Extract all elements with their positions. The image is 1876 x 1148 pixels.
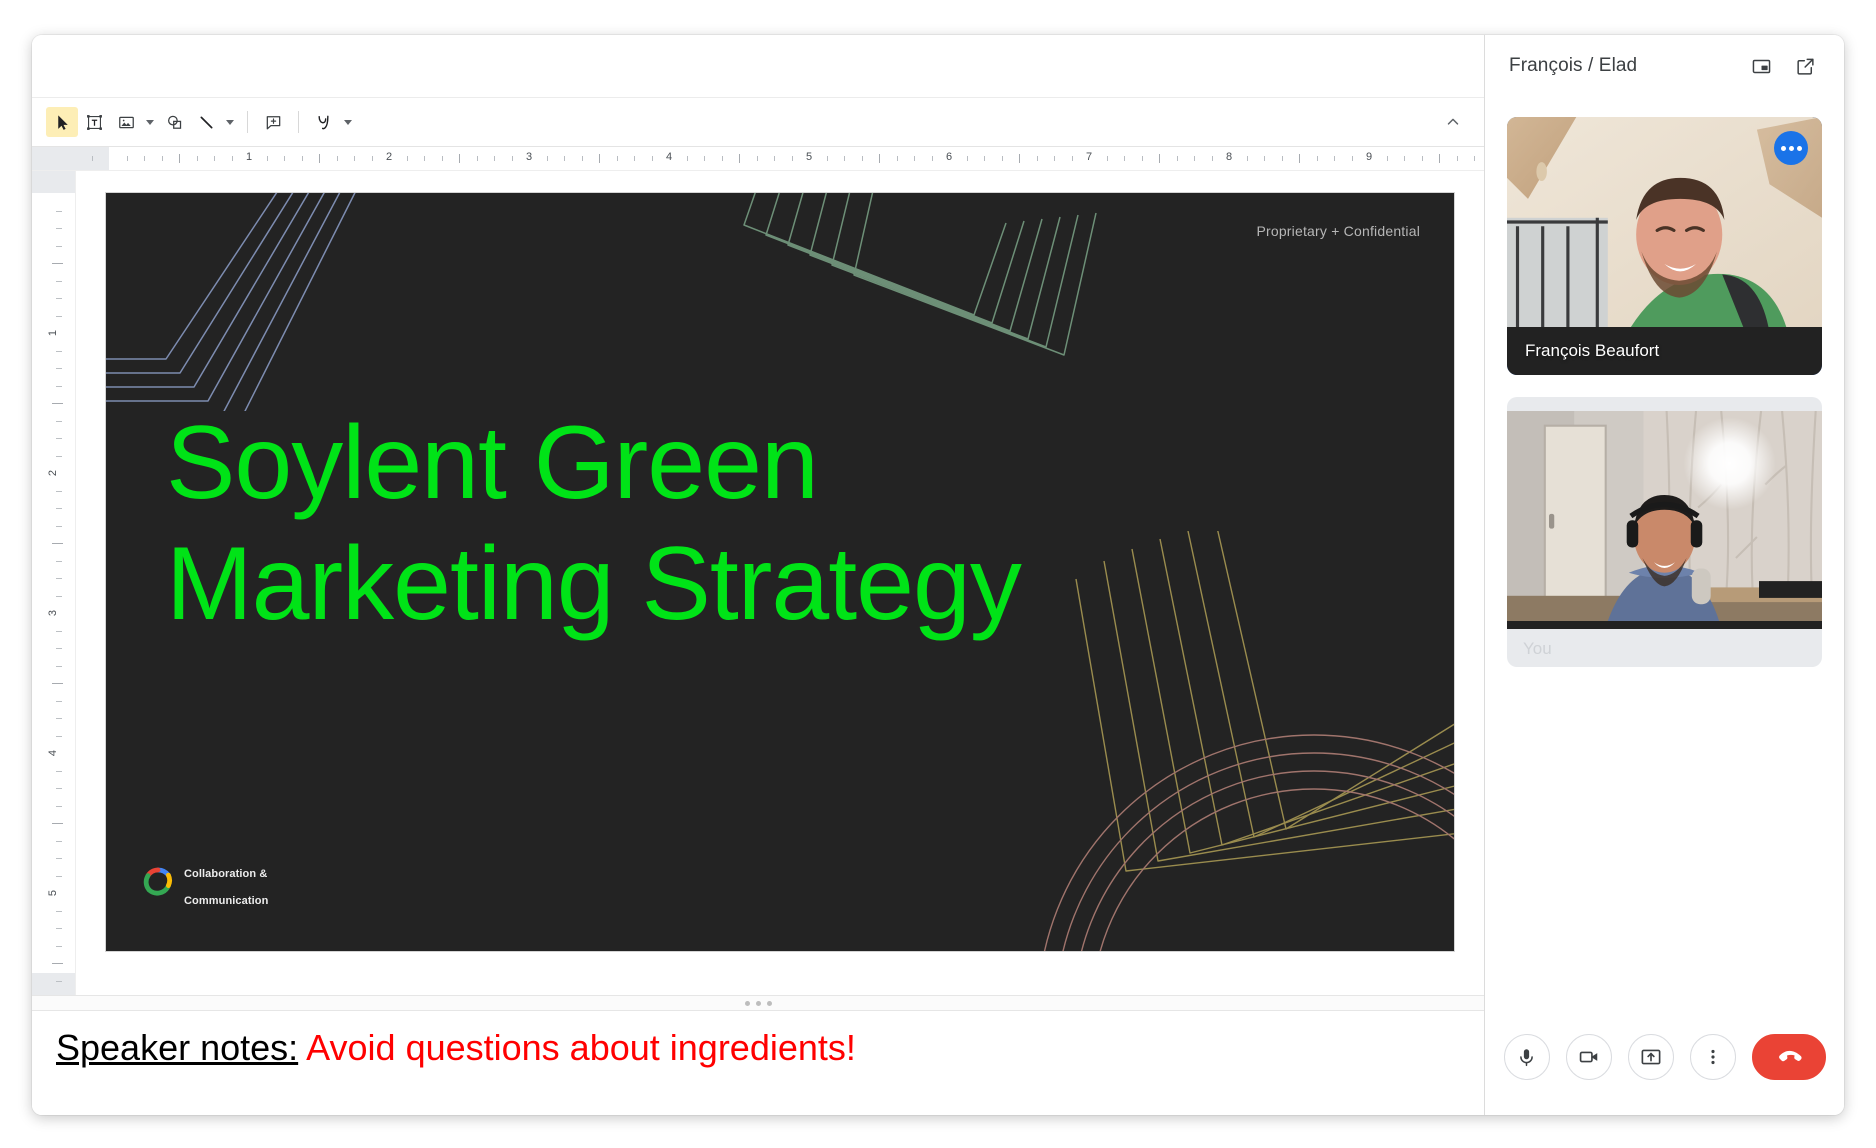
ruler-tick [512, 156, 513, 161]
ruler-tick [1247, 156, 1248, 161]
comment-tool[interactable] [257, 107, 289, 137]
ruler-tick [634, 156, 635, 161]
ruler-tick [56, 666, 62, 667]
ruler-tick [1457, 156, 1458, 161]
ruler-tick [1387, 156, 1388, 161]
ruler-tick [1159, 154, 1160, 163]
ruler-tick [494, 156, 495, 161]
ruler-tick [267, 156, 268, 161]
ruler-tick [56, 438, 62, 439]
editor-body: 12345 [32, 171, 1484, 995]
ruler-tick [56, 508, 62, 509]
ruler-tick [92, 156, 93, 161]
google-c-logo-icon [142, 866, 174, 898]
ruler-tick [1264, 156, 1265, 161]
image-icon [117, 113, 136, 132]
ruler-tick [197, 156, 198, 161]
ruler-tick [1194, 156, 1195, 161]
more-options-button[interactable] [1690, 1034, 1736, 1080]
ruler-tick [372, 156, 373, 161]
meet-panel: François / Elad [1485, 35, 1844, 1115]
participant-tiles: François Beaufort [1485, 97, 1844, 1007]
curve-tool-dropdown[interactable] [340, 107, 356, 137]
ruler-tick [52, 403, 63, 404]
present-button[interactable] [1628, 1034, 1674, 1080]
ruler-tick [792, 156, 793, 161]
text-box-icon [85, 113, 104, 132]
ruler-tick [144, 156, 145, 161]
participant-name: François Beaufort [1525, 341, 1659, 361]
meet-title: François / Elad [1509, 55, 1734, 77]
ruler-tick-label: 3 [526, 151, 532, 163]
ruler-tick [56, 876, 62, 877]
ruler-tick-label: 1 [246, 151, 252, 163]
ruler-tick [302, 156, 303, 161]
image-tool[interactable] [110, 107, 142, 137]
dot [1789, 146, 1794, 151]
ruler-tick [862, 156, 863, 161]
ruler-tick [56, 911, 62, 912]
brand-line-2: Communication [184, 895, 268, 907]
phone-hangup-icon [1775, 1043, 1803, 1071]
ruler-tick [547, 156, 548, 161]
slide-brand-logo: Collaboration & Communication [142, 854, 268, 909]
ruler-tick-label: 6 [946, 151, 952, 163]
ruler-tick [1404, 156, 1405, 161]
ruler-tick [56, 228, 62, 229]
slide-canvas-area[interactable]: Proprietary + Confidential Soylent Green… [76, 171, 1484, 995]
ruler-tick [722, 156, 723, 161]
dot [1781, 146, 1786, 151]
brand-text: Collaboration & Communication [184, 854, 268, 909]
image-tool-dropdown[interactable] [142, 107, 158, 137]
ruler-tick [56, 316, 62, 317]
ruler-tick [56, 981, 62, 982]
ruler-tick [52, 263, 63, 264]
participant-more-options-button[interactable] [1774, 131, 1808, 165]
open-in-new-icon [1795, 56, 1816, 77]
video-frame-self [1507, 411, 1822, 621]
ruler-tick [319, 154, 320, 163]
participant-video: François Beaufort [1507, 117, 1822, 375]
ruler-tick [757, 156, 758, 161]
ruler-tick [827, 156, 828, 161]
slide-title[interactable]: Soylent Green Marketing Strategy [166, 403, 1226, 644]
ruler-tick [56, 736, 62, 737]
ruler-tick [564, 156, 565, 161]
ruler-tick [1002, 156, 1003, 161]
chevron-down-icon [226, 120, 234, 125]
pen-curve-icon [314, 112, 334, 132]
ruler-tick [1439, 154, 1440, 163]
microphone-icon [1516, 1047, 1537, 1068]
chevron-up-icon [1444, 113, 1462, 131]
ruler-tick [984, 156, 985, 161]
ruler-tick [56, 211, 62, 212]
ruler-tick [56, 456, 62, 457]
ruler-tick-label: 5 [806, 151, 812, 163]
horizontal-ruler[interactable]: 123456789 [32, 147, 1484, 171]
collapse-menus-button[interactable] [1438, 107, 1468, 137]
ruler-tick [459, 154, 460, 163]
leave-call-button[interactable] [1752, 1034, 1826, 1080]
cursor-icon [54, 114, 71, 131]
horizontal-ruler-track: 123456789 [76, 147, 1484, 170]
ruler-tick [56, 386, 62, 387]
slides-toolbar [32, 97, 1484, 147]
ruler-tick [1334, 156, 1335, 161]
ruler-tick [599, 154, 600, 163]
ruler-tick [1019, 154, 1020, 163]
ruler-tick [1282, 156, 1283, 161]
toolbar-separator [247, 111, 248, 133]
ruler-tick-label: 4 [47, 750, 59, 756]
present-screen-icon [1640, 1046, 1662, 1068]
ruler-tick [56, 788, 62, 789]
ruler-tick [1422, 156, 1423, 161]
chevron-down-icon [344, 120, 352, 125]
editor-top-gap [32, 35, 1484, 97]
ruler-margin-top [32, 171, 75, 193]
ruler-tick [879, 154, 880, 163]
ruler-tick [1352, 156, 1353, 161]
ruler-tick [56, 421, 62, 422]
dot [1797, 146, 1802, 151]
ruler-tick-label: 2 [386, 151, 392, 163]
ruler-tick [284, 156, 285, 161]
ruler-margin-left [76, 147, 109, 170]
ruler-tick [56, 561, 62, 562]
drag-dot [767, 1001, 772, 1006]
select-tool[interactable] [46, 107, 78, 137]
brand-line-1: Collaboration & [184, 868, 267, 880]
ruler-tick [739, 154, 740, 163]
ruler-tick [56, 491, 62, 492]
ruler-tick [56, 246, 62, 247]
ruler-tick [477, 156, 478, 161]
drag-dot [756, 1001, 761, 1006]
ruler-tick [1474, 156, 1475, 161]
picture-in-picture-icon [1751, 56, 1772, 77]
add-comment-icon [264, 113, 283, 132]
video-camera-icon [1578, 1046, 1600, 1068]
picture-in-picture-button[interactable] [1744, 49, 1778, 83]
ruler-tick [56, 631, 62, 632]
ruler-tick [214, 156, 215, 161]
ruler-tick [52, 963, 63, 964]
ruler-tick [1124, 156, 1125, 161]
ruler-tick-label: 9 [1366, 151, 1372, 163]
speaker-notes-text[interactable]: Avoid questions about ingredients! [306, 1027, 856, 1068]
ruler-tick [56, 351, 62, 352]
ruler-tick [704, 156, 705, 161]
ruler-tick [1177, 156, 1178, 161]
ruler-tick-label: 5 [47, 890, 59, 896]
ruler-tick [162, 156, 163, 161]
ruler-tick [687, 156, 688, 161]
ruler-tick [844, 156, 845, 161]
toolbar-separator [298, 111, 299, 133]
angular-lines-top-center-decoration [706, 193, 1126, 413]
notes-resize-handle[interactable] [32, 995, 1484, 1011]
curve-tool[interactable] [308, 107, 340, 137]
textbox-tool[interactable] [78, 107, 110, 137]
ruler-tick [424, 156, 425, 161]
ruler-tick [56, 928, 62, 929]
ruler-tick-label: 8 [1226, 151, 1232, 163]
ruler-tick [52, 543, 63, 544]
shape-tool[interactable] [158, 107, 190, 137]
ruler-tick [1142, 156, 1143, 161]
ruler-tick [1212, 156, 1213, 161]
ruler-tick [1072, 156, 1073, 161]
participant-tile-self[interactable]: You [1507, 397, 1822, 667]
ruler-tick [56, 368, 62, 369]
ruler-tick [407, 156, 408, 161]
confidential-label: Proprietary + Confidential [1256, 223, 1420, 239]
ruler-tick [442, 156, 443, 161]
ruler-tick [1317, 156, 1318, 161]
ruler-tick [897, 156, 898, 161]
concentric-arcs-bottom-right-decoration [1014, 721, 1454, 951]
ruler-tick [52, 683, 63, 684]
ruler-tick-label: 4 [666, 151, 672, 163]
drag-dot [745, 1001, 750, 1006]
ruler-tick [56, 578, 62, 579]
ruler-tick [56, 841, 62, 842]
chevron-down-icon [146, 120, 154, 125]
vertical-ruler[interactable]: 12345 [32, 171, 76, 995]
ruler-tick [56, 648, 62, 649]
open-in-new-window-button[interactable] [1788, 49, 1822, 83]
ruler-tick [56, 858, 62, 859]
ruler-tick [914, 156, 915, 161]
ruler-tick [127, 156, 128, 161]
ruler-tick [56, 946, 62, 947]
chevron-lines-top-left-decoration [106, 193, 516, 411]
line-tool[interactable] [190, 107, 222, 137]
line-icon [197, 113, 216, 132]
meet-header: François / Elad [1485, 35, 1844, 97]
ruler-tick [1107, 156, 1108, 161]
ruler-tick [52, 823, 63, 824]
ruler-tick [354, 156, 355, 161]
application-window: 123456789 12345 [32, 35, 1844, 1115]
camera-button[interactable] [1566, 1034, 1612, 1080]
ruler-tick [774, 156, 775, 161]
ruler-tick-label: 7 [1086, 151, 1092, 163]
ruler-tick-label: 3 [47, 610, 59, 616]
ruler-corner [32, 147, 76, 170]
line-tool-dropdown[interactable] [222, 107, 238, 137]
ruler-tick [932, 156, 933, 161]
slide[interactable]: Proprietary + Confidential Soylent Green… [106, 193, 1454, 951]
ruler-tick [232, 156, 233, 161]
meet-controls [1485, 1007, 1844, 1115]
speaker-notes-label: Speaker notes: [56, 1027, 298, 1068]
ruler-tick [1037, 156, 1038, 161]
ruler-tick [337, 156, 338, 161]
ruler-tick-label: 2 [47, 470, 59, 476]
ruler-margin-bottom [32, 973, 75, 995]
microphone-button[interactable] [1504, 1034, 1550, 1080]
ruler-tick [56, 596, 62, 597]
ruler-tick [1054, 156, 1055, 161]
ruler-tick [56, 298, 62, 299]
ruler-tick [179, 154, 180, 163]
ruler-tick [56, 526, 62, 527]
speaker-notes[interactable]: Speaker notes: Avoid questions about ing… [32, 1011, 1484, 1115]
slides-editor: 123456789 12345 [32, 35, 1485, 1115]
ruler-tick [56, 718, 62, 719]
ruler-tick [582, 156, 583, 161]
more-vertical-icon [1703, 1047, 1723, 1067]
app-root: 123456789 12345 [0, 0, 1876, 1148]
ruler-tick [56, 281, 62, 282]
self-name: You [1523, 639, 1552, 659]
ruler-tick-label: 1 [47, 330, 59, 336]
ruler-tick [56, 701, 62, 702]
shape-icon [165, 113, 184, 132]
participant-tile-remote[interactable]: François Beaufort [1507, 117, 1822, 375]
ruler-tick [652, 156, 653, 161]
ruler-tick [967, 156, 968, 161]
ruler-tick [56, 806, 62, 807]
ruler-tick [617, 156, 618, 161]
self-video [1507, 411, 1822, 629]
ruler-tick [56, 771, 62, 772]
ruler-tick [1299, 154, 1300, 163]
